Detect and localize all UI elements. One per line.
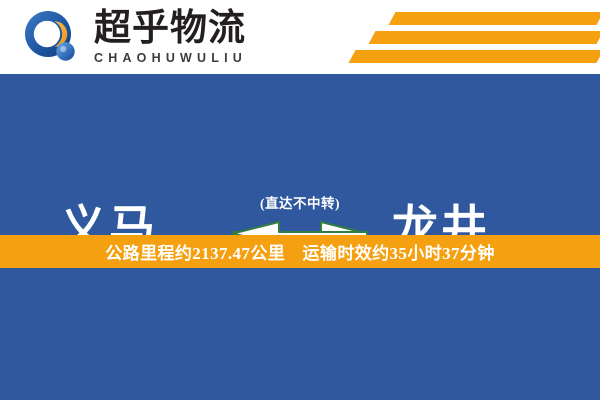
brand-block: 超乎物流 CHAOHUWULIU xyxy=(94,8,284,65)
brand-name-en: CHAOHUWULIU xyxy=(94,51,284,65)
decorative-stripe-2 xyxy=(369,31,600,44)
coverage-panel: 安民街道、龙门街道、梨园街道、开山屯镇、老头沟镇、三合镇、东盛涌镇、智新镇 xyxy=(0,268,600,400)
header-bar: 超乎物流 CHAOHUWULIU xyxy=(0,0,600,74)
route-panel: 义马 (直达不中转) 【往返运输】 龙井 xyxy=(0,74,600,235)
decorative-stripe-1 xyxy=(389,12,600,25)
brand-name-cn: 超乎物流 xyxy=(94,8,284,50)
company-logo-icon xyxy=(24,10,80,66)
distance-duration-text: 公路里程约2137.47公里 运输时效约35小时37分钟 xyxy=(105,239,494,264)
route-note-top: (直达不中转) xyxy=(225,192,375,212)
distance-duration-bar: 公路里程约2137.47公里 运输时效约35小时37分钟 xyxy=(0,235,600,268)
decorative-stripe-3 xyxy=(349,50,600,63)
logistics-route-card: 超乎物流 CHAOHUWULIU 义马 (直达不中转) 【往返运输】 龙井 xyxy=(0,0,600,400)
